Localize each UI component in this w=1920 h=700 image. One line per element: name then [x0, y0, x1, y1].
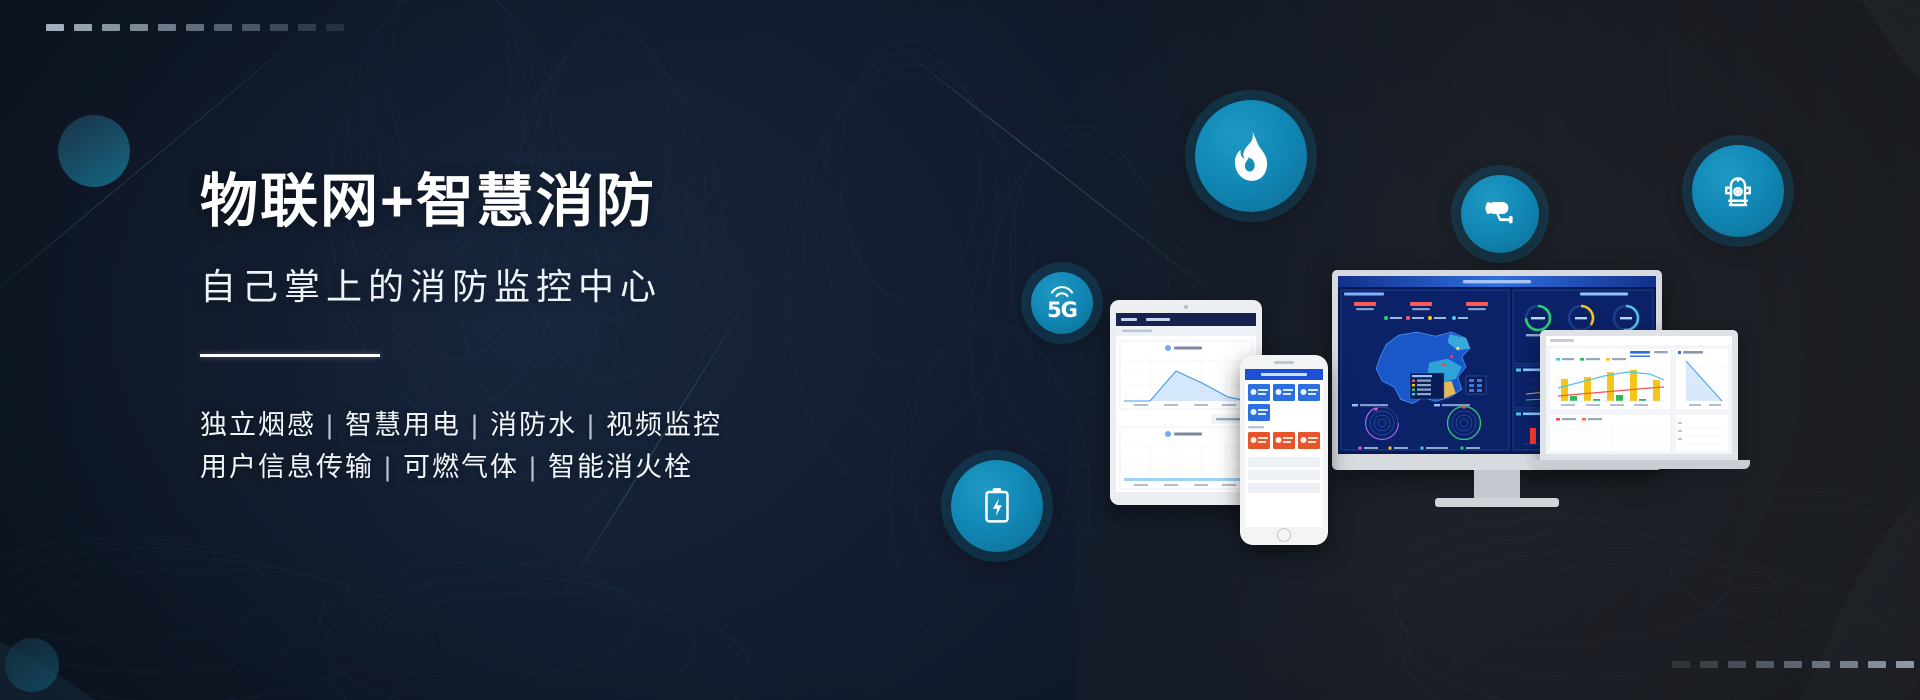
feature-item[interactable]: 消防水	[490, 410, 577, 440]
decor-dash	[1672, 661, 1690, 668]
decor-dash	[130, 24, 148, 31]
feature-separator: |	[529, 452, 538, 482]
phone-speaker-icon	[1274, 361, 1294, 364]
laptop-base	[1530, 460, 1750, 469]
feature-item[interactable]: 智能消火栓	[548, 452, 693, 482]
decor-dash	[1868, 661, 1886, 668]
decor-dash	[1840, 661, 1858, 668]
battery-bolt-icon-badge[interactable]	[951, 460, 1043, 552]
5g-signal-icon: 5G	[1047, 284, 1077, 322]
feature-list: 独立烟感|智慧用电|消防水|视频监控 用户信息传输|可燃气体|智能消火栓	[200, 405, 920, 489]
decor-dash	[158, 24, 176, 31]
fire-hydrant-icon	[1719, 170, 1757, 212]
feature-item[interactable]: 可燃气体	[403, 452, 519, 482]
decor-dash	[1728, 661, 1746, 668]
decor-dash	[1812, 661, 1830, 668]
decor-dash	[74, 24, 92, 31]
monitor-neck	[1474, 470, 1520, 498]
laptop-device[interactable]	[1530, 330, 1750, 469]
feature-item[interactable]: 智慧用电	[345, 410, 461, 440]
feature-separator: |	[326, 410, 335, 440]
tablet-camera-icon	[1184, 305, 1188, 309]
feature-item[interactable]: 独立烟感	[200, 410, 316, 440]
feature-line-2: 用户信息传输|可燃气体|智能消火栓	[200, 447, 920, 489]
hero-text-block: 物联网+智慧消防 自己掌上的消防监控中心 独立烟感|智慧用电|消防水|视频监控 …	[200, 170, 920, 488]
decor-dash-row-top	[46, 24, 344, 31]
battery-bolt-icon	[981, 485, 1013, 527]
title-divider	[200, 354, 380, 357]
decor-dash	[270, 24, 288, 31]
flame-icon-badge[interactable]	[1195, 100, 1307, 212]
fire-hydrant-icon-badge[interactable]	[1692, 145, 1784, 237]
decor-dash	[1756, 661, 1774, 668]
device-mockup-cluster	[1110, 275, 1750, 575]
flame-icon	[1228, 131, 1274, 181]
decor-dash-row-bottom	[1672, 661, 1920, 668]
decor-dash	[1784, 661, 1802, 668]
decor-dash	[214, 24, 232, 31]
decor-dash	[326, 24, 344, 31]
cctv-camera-icon	[1482, 198, 1518, 230]
page-title: 物联网+智慧消防	[200, 170, 920, 234]
decor-dash	[298, 24, 316, 31]
feature-separator: |	[384, 452, 393, 482]
page-subtitle: 自己掌上的消防监控中心	[200, 258, 920, 310]
5g-label: 5G	[1047, 298, 1077, 322]
decor-dash	[242, 24, 260, 31]
hero-banner: 物联网+智慧消防 自己掌上的消防监控中心 独立烟感|智慧用电|消防水|视频监控 …	[0, 0, 1920, 700]
laptop-screen	[1546, 336, 1732, 454]
smartphone-device[interactable]	[1240, 355, 1328, 545]
cctv-camera-icon-badge[interactable]	[1461, 175, 1539, 253]
decor-dash	[186, 24, 204, 31]
decor-dash	[102, 24, 120, 31]
feature-separator: |	[587, 410, 596, 440]
feature-line-1: 独立烟感|智慧用电|消防水|视频监控	[200, 405, 920, 447]
phone-screen	[1245, 369, 1323, 527]
laptop-lid	[1540, 330, 1738, 460]
5g-signal-icon-badge[interactable]: 5G	[1031, 272, 1093, 334]
monitor-stand-base	[1435, 498, 1559, 507]
decor-dash	[46, 24, 64, 31]
decor-dash	[1700, 661, 1718, 668]
tablet-screen	[1116, 313, 1256, 492]
feature-separator: |	[471, 410, 480, 440]
phone-home-button[interactable]	[1277, 528, 1291, 542]
decor-dash	[1896, 661, 1914, 668]
feature-item[interactable]: 用户信息传输	[200, 452, 374, 482]
feature-item[interactable]: 视频监控	[606, 410, 722, 440]
